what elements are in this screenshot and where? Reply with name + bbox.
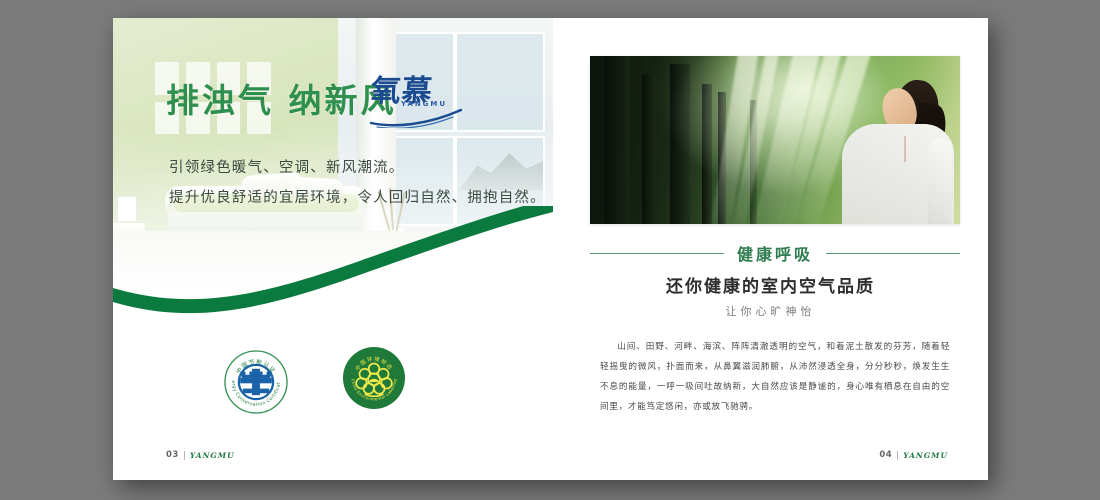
subline-2: 提升优良舒适的宜居环境，令人回归自然、拥抱自然。 xyxy=(169,186,546,207)
left-headline-block: 排浊气 纳新风 氧慕 YANGMU 引领绿色暖气、空调、新风潮流。 提升优良舒适… xyxy=(113,18,553,198)
page-number: 03 xyxy=(166,450,179,460)
left-page: 排浊气 纳新风 氧慕 YANGMU 引领绿色暖气、空调、新风潮流。 提升优良舒适… xyxy=(113,18,553,480)
section-heading: 健康呼吸 xyxy=(590,241,960,265)
page-title: 排浊气 纳新风 xyxy=(166,74,397,122)
footer-brand: YANGMU xyxy=(190,451,235,460)
main-heading: 还你健康的室内空气品质 xyxy=(553,272,988,297)
footer-divider xyxy=(897,451,898,460)
page-number: 04 xyxy=(879,450,892,460)
screenshot-canvas: 排浊气 纳新风 氧慕 YANGMU 引领绿色暖气、空调、新风潮流。 提升优良舒适… xyxy=(0,0,1100,500)
left-page-footer: 03 YANGMU xyxy=(166,450,235,460)
subline-1: 引领绿色暖气、空调、新风潮流。 xyxy=(169,156,405,177)
certification-seals: 中国节能认证 Energy Conservation Certification xyxy=(223,345,423,423)
brochure-spread: 排浊气 纳新风 氧慕 YANGMU 引领绿色暖气、空调、新风潮流。 提升优良舒适… xyxy=(113,18,988,480)
footer-divider xyxy=(184,451,185,460)
green-wave-divider xyxy=(113,206,553,321)
environmental-label-seal-icon: 中国环境标志 China Environmental Labelling xyxy=(341,345,407,411)
heading-rule-left xyxy=(590,253,724,254)
brand-logo: 氧慕 YANGMU xyxy=(371,66,467,122)
sub-heading: 让你心旷神怡 xyxy=(553,303,988,319)
section-title: 健康呼吸 xyxy=(737,241,813,265)
brand-logo-en: YANGMU xyxy=(401,100,447,108)
body-paragraph: 山间、田野、河畔、海滨、阵阵清澈透明的空气，和着泥土散发的芬芳，随着轻轻摇曳的微… xyxy=(600,338,950,418)
woman-breathing-figure xyxy=(834,74,954,224)
logo-swoosh-icon xyxy=(369,106,469,128)
figure-shading xyxy=(842,124,954,224)
footer-brand: YANGMU xyxy=(903,451,948,460)
heading-rule-right xyxy=(826,253,960,254)
energy-conservation-seal-icon: 中国节能认证 Energy Conservation Certification xyxy=(223,349,289,415)
forest-hero-photo xyxy=(590,56,960,224)
right-page: 健康呼吸 还你健康的室内空气品质 让你心旷神怡 山间、田野、河畔、海滨、阵阵清澈… xyxy=(553,18,988,480)
right-page-footer: 04 YANGMU xyxy=(879,450,948,460)
